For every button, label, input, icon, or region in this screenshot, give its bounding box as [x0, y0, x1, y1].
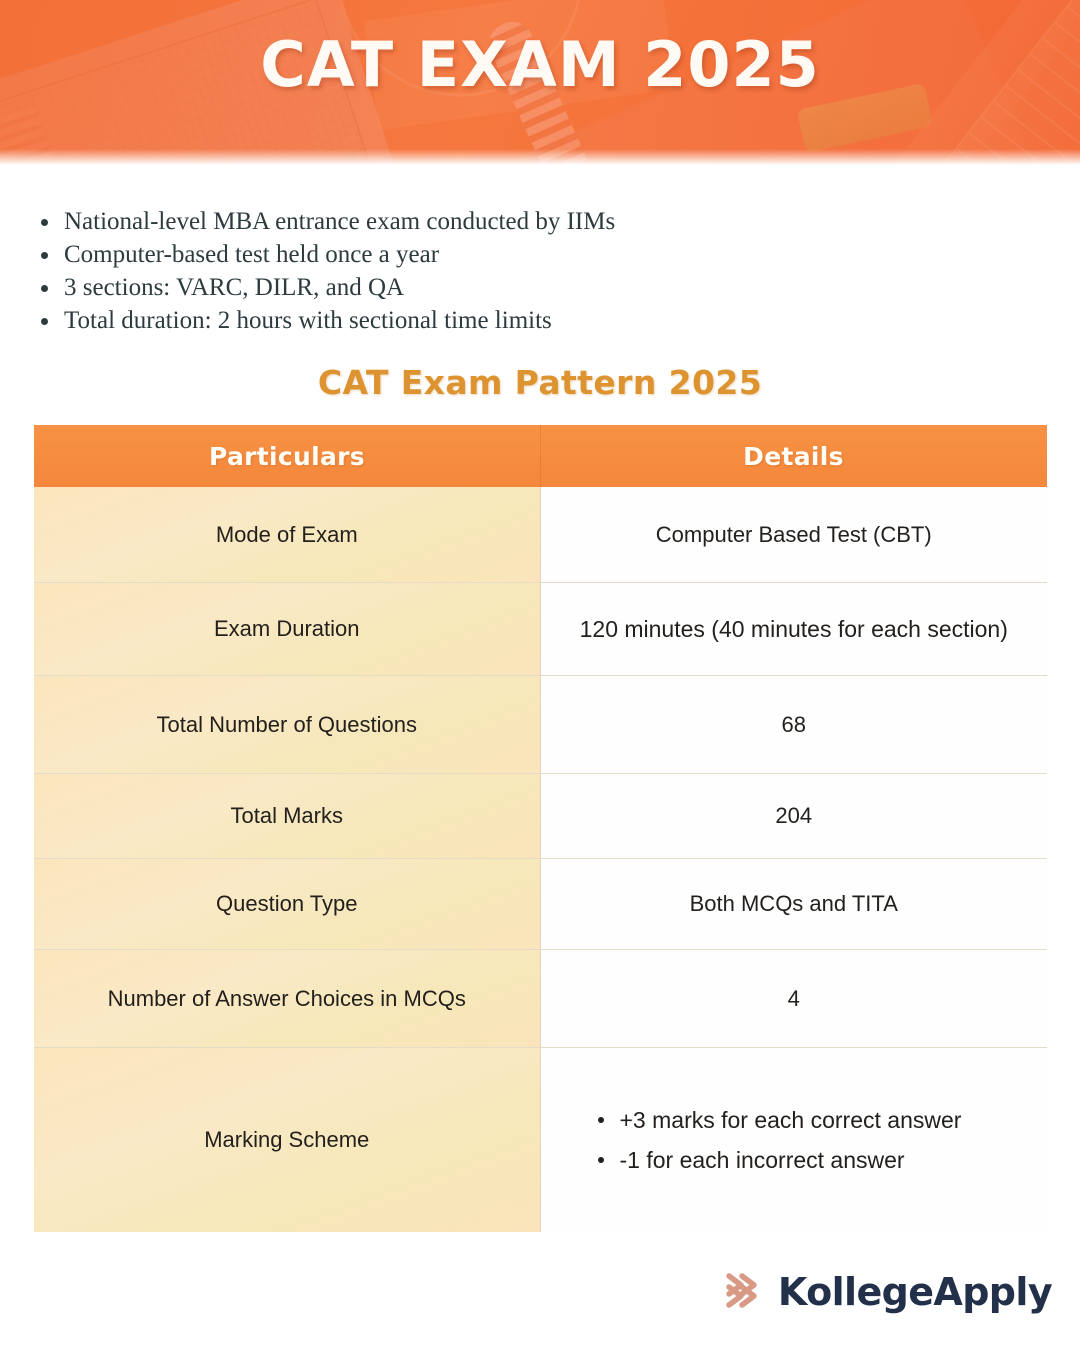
column-header-details: Details: [540, 425, 1047, 487]
cell-particular: Exam Duration: [34, 583, 540, 676]
list-item-label: 3 sections: VARC, DILR, and QA: [64, 274, 404, 301]
page-header-banner: CAT EXAM 2025: [0, 0, 1080, 165]
banner-bottom-fade: [0, 149, 1080, 165]
bullet-dot-icon: [598, 1157, 604, 1163]
cell-particular: Marking Scheme: [34, 1048, 540, 1233]
cell-detail: 68: [540, 676, 1047, 774]
bullet-dot-icon: [598, 1117, 604, 1123]
page-title: CAT Exam Pattern 2025: [0, 363, 1080, 402]
marking-scheme-list: +3 marks for each correct answer -1 for …: [542, 1100, 1047, 1180]
cell-detail: Both MCQs and TITA: [540, 859, 1047, 950]
list-item-label: Total duration: 2 hours with sectional t…: [64, 307, 552, 334]
exam-pattern-table: Particulars Details Mode of Exam Compute…: [34, 425, 1047, 1232]
cell-detail: 4: [540, 950, 1047, 1048]
table-row: Total Number of Questions 68: [34, 676, 1047, 774]
intro-bullet-list: National-level MBA entrance exam conduct…: [38, 207, 838, 339]
list-item-label: National-level MBA entrance exam conduct…: [64, 208, 615, 235]
cell-particular: Question Type: [34, 859, 540, 950]
table-row: Exam Duration 120 minutes (40 minutes fo…: [34, 583, 1047, 676]
cell-detail: 204: [540, 774, 1047, 859]
list-item: Total duration: 2 hours with sectional t…: [38, 306, 838, 336]
table-header: Particulars Details: [34, 425, 1047, 487]
footer-logo-text: KollegeApply: [778, 1270, 1052, 1314]
list-item: Computer-based test held once a year: [38, 240, 838, 270]
bullet-dot-icon: [41, 285, 48, 292]
table-row: Number of Answer Choices in MCQs 4: [34, 950, 1047, 1048]
bullet-dot-icon: [41, 318, 48, 325]
list-item-label: Computer-based test held once a year: [64, 241, 439, 268]
table-body: Mode of Exam Computer Based Test (CBT) E…: [34, 487, 1047, 1232]
table-row: Mode of Exam Computer Based Test (CBT): [34, 487, 1047, 583]
list-item: +3 marks for each correct answer: [598, 1100, 1047, 1140]
cell-particular: Number of Answer Choices in MCQs: [34, 950, 540, 1048]
table-row: Question Type Both MCQs and TITA: [34, 859, 1047, 950]
bullet-dot-icon: [41, 219, 48, 226]
list-item-label: +3 marks for each correct answer: [620, 1107, 962, 1133]
cell-detail-marking-scheme: +3 marks for each correct answer -1 for …: [540, 1048, 1047, 1233]
cell-detail: 120 minutes (40 minutes for each section…: [540, 583, 1047, 676]
list-item: 3 sections: VARC, DILR, and QA: [38, 273, 838, 303]
bullet-dot-icon: [41, 252, 48, 259]
list-item: National-level MBA entrance exam conduct…: [38, 207, 838, 237]
double-chevron-right-icon: [720, 1267, 764, 1316]
table-row: Marking Scheme +3 marks for each correct…: [34, 1048, 1047, 1233]
cell-particular: Total Marks: [34, 774, 540, 859]
footer-logo[interactable]: KollegeApply: [720, 1267, 1052, 1316]
table-header-row: Particulars Details: [34, 425, 1047, 487]
cell-particular: Mode of Exam: [34, 487, 540, 583]
list-item: -1 for each incorrect answer: [598, 1140, 1047, 1180]
cell-detail: Computer Based Test (CBT): [540, 487, 1047, 583]
banner-title: CAT EXAM 2025: [0, 28, 1080, 101]
list-item-label: -1 for each incorrect answer: [620, 1147, 905, 1173]
column-header-particulars: Particulars: [34, 425, 540, 487]
cell-particular: Total Number of Questions: [34, 676, 540, 774]
table-row: Total Marks 204: [34, 774, 1047, 859]
